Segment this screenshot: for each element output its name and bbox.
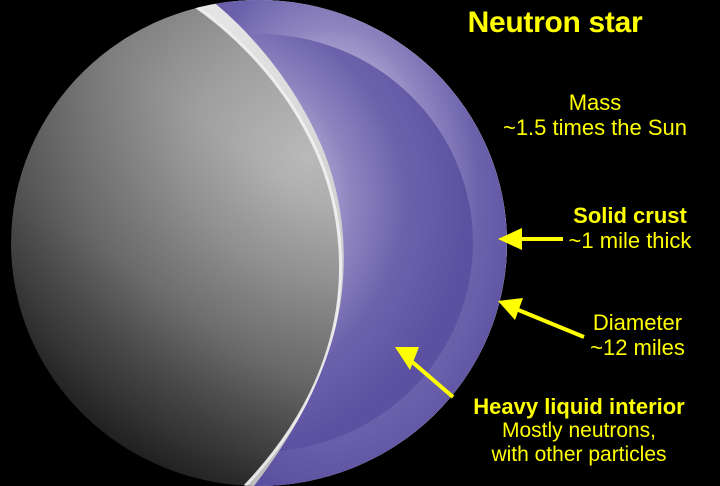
heavy-liquid-interior-label: Heavy liquid interior Mostly neutrons, w… [438, 394, 720, 467]
neutron-star-diagram: Neutron star Mass ~1.5 times the Sun Sol… [0, 0, 720, 486]
mass-heading: Mass [470, 90, 720, 115]
solid-crust-heading: Solid crust [540, 203, 720, 228]
diameter-detail: ~12 miles [555, 335, 720, 360]
interior-detail-line2: with other particles [438, 443, 720, 467]
diameter-label: Diameter ~12 miles [555, 310, 720, 360]
interior-heading: Heavy liquid interior [438, 394, 720, 419]
diagram-title: Neutron star [400, 6, 710, 40]
mass-label: Mass ~1.5 times the Sun [470, 90, 720, 140]
interior-detail-line1: Mostly neutrons, [438, 419, 720, 443]
solid-crust-label: Solid crust ~1 mile thick [540, 203, 720, 253]
solid-crust-detail: ~1 mile thick [540, 228, 720, 253]
mass-detail: ~1.5 times the Sun [470, 115, 720, 140]
diameter-heading: Diameter [555, 310, 720, 335]
